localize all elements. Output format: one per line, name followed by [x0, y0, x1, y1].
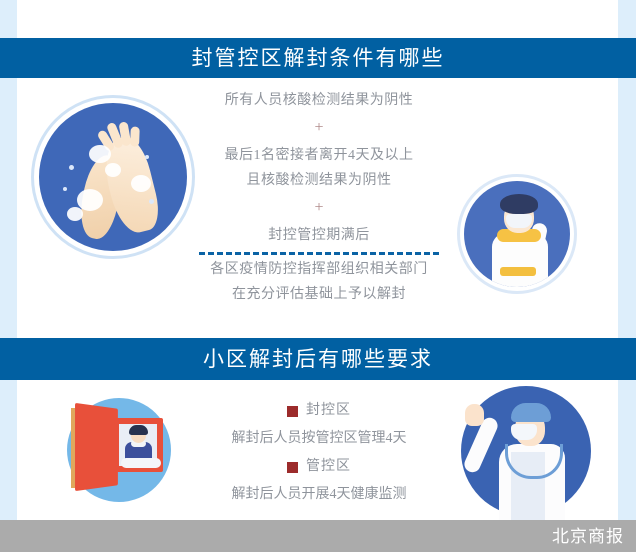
- finger: [130, 126, 140, 146]
- surgical-cap-icon: [511, 403, 551, 422]
- dashed-divider: [199, 252, 439, 255]
- zone-label-2: 管控区: [306, 454, 351, 480]
- watermark-text: 北京商报: [552, 522, 624, 547]
- resident-arm: [121, 458, 161, 468]
- watermark-bar: [0, 520, 636, 552]
- masked-person-disc: [464, 181, 570, 287]
- condition-line-3: 且核酸检测结果为阴性: [185, 168, 453, 193]
- section-two-title: 小区解封后有哪些要求: [203, 349, 433, 370]
- section-one-text: 所有人员核酸检测结果为阴性 + 最后1名密接者离开4天及以上 且核酸检测结果为阴…: [185, 88, 453, 307]
- zone-swatch-icon: [287, 406, 298, 417]
- condition-line-2: 最后1名密接者离开4天及以上: [185, 143, 453, 168]
- zone-desc-2: 解封后人员开展4天健康监测: [185, 480, 453, 510]
- plus-sign-2: +: [185, 193, 453, 223]
- window-frame: [113, 418, 163, 472]
- sparkle: [149, 199, 154, 204]
- conclusion-line-2: 在充分评估基础上予以解封: [185, 282, 453, 307]
- face-mask-icon: [511, 424, 537, 440]
- doctor-thumbs-up-icon: [437, 382, 597, 532]
- zone-label-1: 封控区: [306, 398, 351, 424]
- soap-bubble: [105, 163, 121, 177]
- open-door-window-icon: [51, 390, 181, 510]
- section-two-text: 封控区 解封后人员按管控区管理4天 管控区 解封后人员开展4天健康监测: [185, 398, 453, 510]
- person-belt: [500, 267, 536, 276]
- zone-desc-1: 解封后人员按管控区管理4天: [185, 424, 453, 454]
- condition-line-1: 所有人员核酸检测结果为阴性: [185, 88, 453, 113]
- thumbs-up-icon: [465, 404, 484, 426]
- door-panel: [75, 403, 118, 491]
- window-pane: [119, 424, 157, 466]
- soap-bubble: [89, 145, 111, 163]
- section-one-banner: 封管控区解封条件有哪些: [0, 38, 636, 78]
- sparkle: [63, 187, 67, 191]
- infographic-page: 封管控区解封条件有哪些: [0, 0, 636, 552]
- soap-bubble: [77, 189, 103, 211]
- section-two-banner: 小区解封后有哪些要求: [0, 338, 636, 380]
- masked-person-icon: [457, 174, 577, 294]
- soap-bubble: [67, 207, 83, 221]
- condition-line-4: 封控管控期满后: [185, 223, 453, 248]
- zone-heading-2: 管控区: [185, 454, 453, 480]
- handwash-disc: [39, 103, 187, 251]
- section-one-content: 所有人员核酸检测结果为阴性 + 最后1名密接者离开4天及以上 且核酸检测结果为阴…: [17, 78, 618, 338]
- soap-bubble: [131, 175, 151, 192]
- face-mask-icon: [506, 214, 532, 228]
- section-one-title: 封管控区解封条件有哪些: [192, 48, 445, 69]
- zone-swatch-icon: [287, 462, 298, 473]
- plus-sign-1: +: [185, 113, 453, 143]
- resident-hair: [129, 425, 148, 435]
- sparkle: [69, 165, 74, 170]
- zone-heading-1: 封控区: [185, 398, 453, 424]
- handwashing-icon: [31, 95, 195, 259]
- sparkle: [145, 155, 149, 159]
- person-hair: [500, 194, 538, 214]
- conclusion-line-1: 各区疫情防控指挥部组织相关部门: [185, 257, 453, 282]
